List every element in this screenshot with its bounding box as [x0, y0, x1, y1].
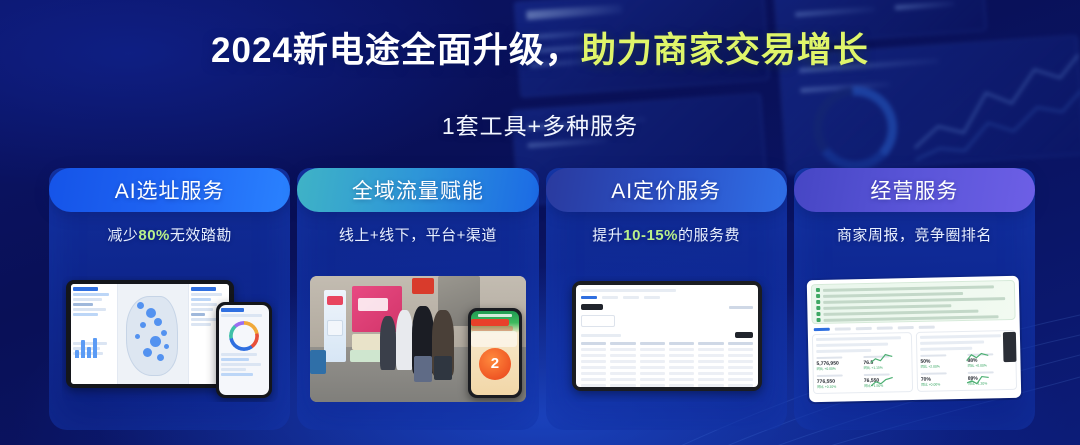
caption-prefix: 提升 [592, 227, 623, 244]
card-screenshot-site-selection [62, 276, 278, 402]
report-column-left: 5,776,950 同比 +0.00% 76.5 同比 +1.15% 776,5… [812, 332, 913, 394]
tablet-device-mock [572, 281, 762, 391]
caption-suffix: 的服务费 [678, 227, 740, 244]
card-caption-ai-site-selection: 减少80%无效踏勘 [49, 224, 290, 245]
caption-suffix: 无效踏勘 [170, 227, 232, 244]
card-caption-operations: 商家周报，竞争圈排名 [794, 224, 1035, 245]
report-metric: 70% 同比 +0.00% [921, 372, 965, 388]
floating-widget[interactable] [1003, 332, 1017, 362]
card-pill-ai-pricing[interactable]: AI定价服务 [546, 168, 787, 212]
caption-prefix: 减少 [107, 227, 138, 244]
donut-chart-icon [229, 321, 259, 351]
weekly-report-dashboard: 5,776,950 同比 +0.00% 76.5 同比 +1.15% 776,5… [807, 276, 1022, 402]
report-metric: 50% 同比 +2.00% [921, 354, 965, 370]
caption-highlight: 80% [138, 227, 170, 244]
sparkline-icon [967, 374, 989, 386]
pricing-table [581, 342, 753, 387]
phone-device-mock [216, 302, 272, 398]
page-title-green-part: 助力商家交易增长 [581, 31, 869, 70]
report-summary-panel [811, 280, 1016, 324]
service-cards-row: AI选址服务 减少80%无效踏勘 [49, 168, 1035, 430]
sparkline-icon [871, 352, 893, 364]
page-title: 2024新电途全面升级，助力商家交易增长 [0, 22, 1080, 73]
card-pill-ai-site-selection[interactable]: AI选址服务 [49, 168, 290, 212]
card-pill-operations[interactable]: 经营服务 [794, 168, 1035, 212]
service-card-ai-pricing[interactable]: AI定价服务 提升10-15%的服务费 [546, 168, 787, 430]
card-caption-omni-channel-traffic: 线上+线下，平台+渠道 [297, 224, 538, 245]
card-screenshot-weekly-report: 5,776,950 同比 +0.00% 76.5 同比 +1.15% 776,5… [805, 274, 1024, 404]
card-pill-omni-channel-traffic[interactable]: 全域流量赋能 [297, 168, 538, 212]
card-caption-ai-pricing: 提升10-15%的服务费 [546, 224, 787, 245]
service-card-operations[interactable]: 经营服务 商家周报，竞争圈排名 [794, 168, 1035, 430]
report-metric: 5,776,950 同比 +0.00% [817, 356, 861, 372]
page-subtitle: 1套工具+多种服务 [0, 107, 1080, 141]
promo-amount: 2 [479, 348, 511, 380]
page-title-white-part: 2024新电途全面升级， [211, 31, 581, 70]
caption-highlight: 10-15% [623, 227, 678, 244]
caption-prefix: 线上+线下，平台+渠道 [339, 227, 497, 244]
service-card-omni-channel-traffic[interactable]: 全域流量赋能 线上+线下，平台+渠道 [297, 168, 538, 430]
service-card-ai-site-selection[interactable]: AI选址服务 减少80%无效踏勘 [49, 168, 290, 430]
promo-phone-mock: 2 [468, 308, 522, 398]
card-screenshot-pricing-table [558, 276, 774, 402]
tablet-device-mock [66, 280, 234, 388]
report-metric: 776,550 同比 +0.10% [817, 374, 861, 390]
caption-prefix: 商家周报，竞争圈排名 [837, 227, 992, 244]
sparkline-icon [871, 376, 893, 388]
card-screenshot-promotion-photo: 2 [310, 276, 526, 402]
sparkline-icon [967, 350, 989, 362]
